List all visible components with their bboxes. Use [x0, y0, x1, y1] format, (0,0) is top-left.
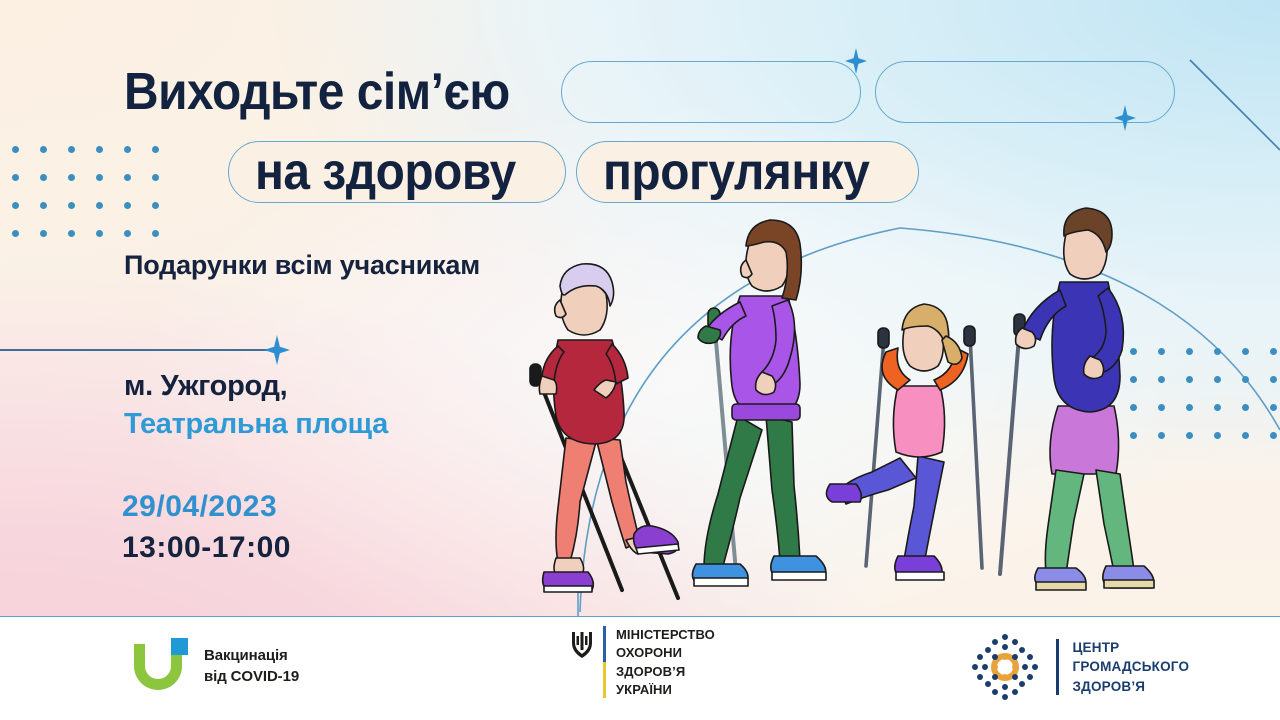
ministry-line3: ЗДОРОВ’Я [616, 663, 715, 681]
gifts-text: Подарунки всім учасникам [124, 248, 544, 283]
trident-icon [570, 630, 594, 660]
location-city: м. Ужгород, [124, 368, 564, 406]
logo-vaccination: Вакцинація від COVID-19 [132, 638, 299, 696]
divider-star-icon [264, 335, 290, 365]
logo-public-health-center: ЦЕНТР ГРОМАДСЬКОГО ЗДОРОВ’Я [968, 630, 1189, 704]
figure-woman [692, 220, 826, 586]
figure-elderly-woman [530, 264, 679, 598]
phc-line2: ГРОМАДСЬКОГО [1073, 657, 1190, 676]
event-time: 13:00-17:00 [122, 528, 291, 569]
phc-line3: ЗДОРОВ’Я [1073, 677, 1190, 696]
decorative-pill-1 [561, 61, 861, 123]
ministry-line2: ОХОРОНИ [616, 644, 715, 662]
figure-man [1000, 208, 1154, 590]
phc-label: ЦЕНТР ГРОМАДСЬКОГО ЗДОРОВ’Я [1073, 638, 1190, 696]
vaccination-dot-icon [171, 638, 188, 655]
phc-line1: ЦЕНТР [1073, 638, 1190, 657]
nordic-walking-illustration [500, 190, 1220, 620]
vaccination-label: Вакцинація від COVID-19 [204, 646, 299, 687]
ministry-line4: УКРАЇНИ [616, 681, 715, 699]
gifts-note: Подарунки всім учасникам [124, 248, 544, 283]
decorative-pill-2 [875, 61, 1175, 123]
phc-radial-dots-icon [968, 630, 1042, 704]
ministry-label: МІНІСТЕРСТВО ОХОРОНИ ЗДОРОВ’Я УКРАЇНИ [616, 626, 715, 700]
vaccination-v-icon [132, 638, 192, 696]
ministry-line1: МІНІСТЕРСТВО [616, 626, 715, 644]
ministry-flag-bar [603, 626, 606, 698]
vaccination-line1: Вакцинація [204, 646, 299, 667]
section-divider [0, 337, 300, 363]
location-venue: Театральна площа [124, 406, 564, 444]
datetime-block: 29/04/2023 13:00-17:00 [122, 487, 291, 568]
headline-line1: Виходьте сім’єю [124, 66, 510, 118]
vaccination-line2: від COVID-19 [204, 667, 299, 688]
poster-canvas: Виходьте сім’єю на здорову прогулянку По… [0, 0, 1280, 720]
divider-line [0, 349, 276, 351]
logo-ministry-of-health: МІНІСТЕРСТВО ОХОРОНИ ЗДОРОВ’Я УКРАЇНИ [570, 626, 715, 700]
headline-line2-part1: на здорову [255, 146, 516, 198]
location-block: м. Ужгород, Театральна площа [124, 368, 564, 443]
event-date: 29/04/2023 [122, 487, 291, 528]
headline-block: Виходьте сім’єю на здорову прогулянку [0, 58, 1280, 206]
figure-girl [826, 304, 982, 580]
phc-divider-bar [1056, 639, 1059, 695]
